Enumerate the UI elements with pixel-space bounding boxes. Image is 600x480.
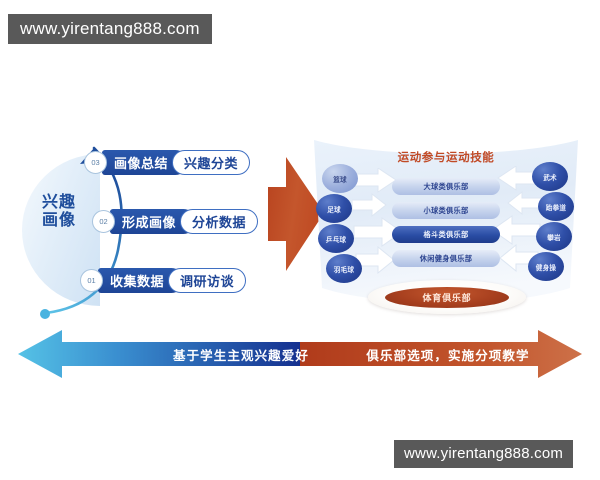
club-bar-3[interactable]: 格斗类俱乐部 bbox=[392, 226, 500, 243]
diagram-canvas: www.yirentang888.com www.yirentang888.co… bbox=[0, 0, 600, 480]
sports-club-base: 体育俱乐部 bbox=[368, 280, 526, 314]
watermark-bottom: www.yirentang888.com bbox=[394, 440, 573, 468]
sport-bubble-left-1[interactable]: 篮球 bbox=[322, 164, 358, 193]
club-bar-4[interactable]: 休闲健身俱乐部 bbox=[392, 250, 500, 267]
flow-row-3[interactable]: 画像总结 兴趣分类 bbox=[102, 150, 250, 175]
sports-club-panel: 运动参与运动技能 篮球 足球 乒乓球 羽毛球 武术 跆拳道 bbox=[308, 132, 584, 324]
flow-step-number-2: 02 bbox=[92, 210, 115, 233]
sport-bubble-right-4[interactable]: 健身操 bbox=[528, 252, 564, 281]
bar-label-right: 俱乐部选项，实施分项教学 bbox=[318, 345, 578, 363]
flow-row-2-action: 分析数据 bbox=[180, 209, 258, 234]
flow-row-3-action: 兴趣分类 bbox=[172, 150, 250, 175]
sports-club-base-label: 体育俱乐部 bbox=[385, 287, 509, 308]
interest-profile-flow: 兴趣 画像 03 画像总结 兴趣分类 02 形成画像 分析数据 bbox=[14, 126, 276, 322]
club-bar-2[interactable]: 小球类俱乐部 bbox=[392, 202, 500, 219]
flow-step-number-3: 03 bbox=[84, 151, 107, 174]
sport-bubble-right-2[interactable]: 跆拳道 bbox=[538, 192, 574, 221]
flow-row-1-action: 调研访谈 bbox=[168, 268, 246, 293]
sport-bubble-right-3[interactable]: 攀岩 bbox=[536, 222, 572, 251]
sport-bubble-left-3[interactable]: 乒乓球 bbox=[318, 224, 354, 253]
flow-row-1[interactable]: 收集数据 调研访谈 bbox=[98, 268, 246, 293]
watermark-top: www.yirentang888.com bbox=[8, 14, 212, 44]
sport-bubble-left-4[interactable]: 羽毛球 bbox=[326, 254, 362, 283]
bidirectional-arrow-bar: 基于学生主观兴趣爱好 俱乐部选项，实施分项教学 bbox=[18, 328, 582, 380]
sport-bubble-left-2[interactable]: 足球 bbox=[316, 194, 352, 223]
flow-row-2[interactable]: 形成画像 分析数据 bbox=[110, 209, 258, 234]
sport-bubble-right-1[interactable]: 武术 bbox=[532, 162, 568, 191]
club-bar-1[interactable]: 大球类俱乐部 bbox=[392, 178, 500, 195]
flow-step-number-1: 01 bbox=[80, 269, 103, 292]
